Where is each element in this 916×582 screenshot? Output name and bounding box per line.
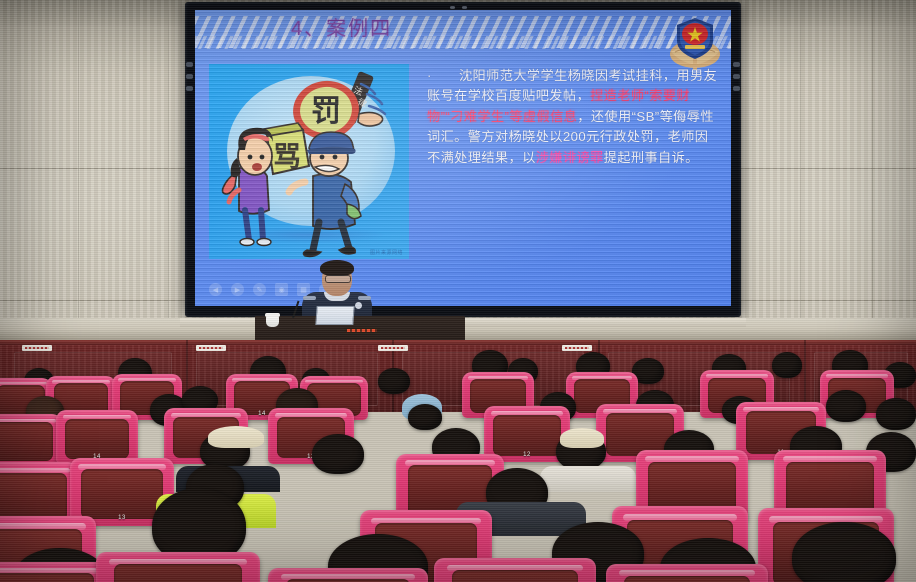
wood-panel-top-rail: [0, 340, 916, 345]
laser-pointer-icon[interactable]: ◉: [275, 283, 288, 296]
officer-epaulette: [303, 296, 316, 300]
projector-screen[interactable]: 4、案例四: [185, 2, 741, 317]
audience-hat: [208, 426, 264, 448]
audience-seat[interactable]: [0, 414, 62, 466]
seat-number: 12: [523, 452, 531, 458]
slide-title: 4、案例四: [291, 14, 531, 44]
audience-seating: 16 14 13 12 11: [0, 346, 916, 582]
audience-seat[interactable]: 13: [96, 552, 260, 582]
previous-slide-icon[interactable]: ◀: [209, 283, 222, 296]
audience-seat[interactable]: [606, 564, 768, 582]
svg-text:罚: 罚: [311, 94, 341, 129]
next-slide-icon[interactable]: ▶: [231, 283, 244, 296]
wall-vertical-seam: [168, 0, 169, 340]
slide-body-text: · 沈阳师范大学学生杨晓因考试挂科，用男友账号在学校百度贴吧发帖，捏造老师“索要…: [427, 66, 719, 168]
desk-nameplate: [344, 327, 380, 334]
wall-vertical-seam: [78, 0, 79, 340]
seat-number: 14: [258, 411, 266, 417]
audience-head: [312, 434, 364, 474]
audience-head: [876, 398, 916, 430]
laptop-screen: [315, 306, 354, 325]
audience-seat[interactable]: [434, 558, 596, 582]
bezel-side-mark: [733, 86, 740, 91]
audience-shoulders: [540, 466, 636, 492]
bezel-side-mark: [186, 62, 193, 67]
officer-badge: [355, 302, 362, 309]
bezel-side-mark: [733, 74, 740, 79]
body-seg-4: 提起刑事自诉。: [604, 150, 699, 165]
teacup-lid: [265, 313, 280, 317]
bezel-side-mark: [186, 86, 193, 91]
cartoon-watermark: 图片来源网络: [370, 249, 403, 256]
audience-head: [826, 390, 866, 422]
audience-hat: [560, 428, 604, 448]
officer-glasses: [325, 275, 351, 283]
teacup: [265, 312, 281, 327]
wall-vertical-seam: [872, 0, 873, 340]
audience-seat[interactable]: [0, 562, 110, 582]
seat-number: 13: [118, 515, 126, 521]
cartoon-girl: [223, 128, 274, 246]
svg-text:骂: 骂: [273, 140, 301, 173]
audience-seat[interactable]: [268, 568, 428, 582]
wall-vertical-seam: [800, 0, 801, 340]
body-seg-3-highlight: 涉嫌诽谤罪: [536, 150, 604, 165]
audience-seat[interactable]: 14: [56, 410, 138, 464]
audience-head: [772, 352, 802, 378]
presentation-slide[interactable]: 4、案例四: [195, 10, 731, 306]
laptop[interactable]: [314, 306, 356, 326]
pen-icon[interactable]: ✎: [253, 283, 266, 296]
officer-epaulette: [358, 296, 371, 300]
teacup-body: [266, 316, 279, 327]
officer-hair: [320, 260, 354, 276]
audience-head: [792, 522, 896, 582]
bezel-side-mark: [186, 74, 193, 79]
audience-head: [408, 404, 442, 430]
bezel-side-mark: [733, 62, 740, 67]
anti-cyberbullying-cartoon: 法 律 罚: [209, 64, 409, 259]
china-police-badge-icon: [667, 14, 723, 72]
lecture-hall-photo: 4、案例四: [0, 0, 916, 582]
audience-head: [378, 368, 410, 394]
